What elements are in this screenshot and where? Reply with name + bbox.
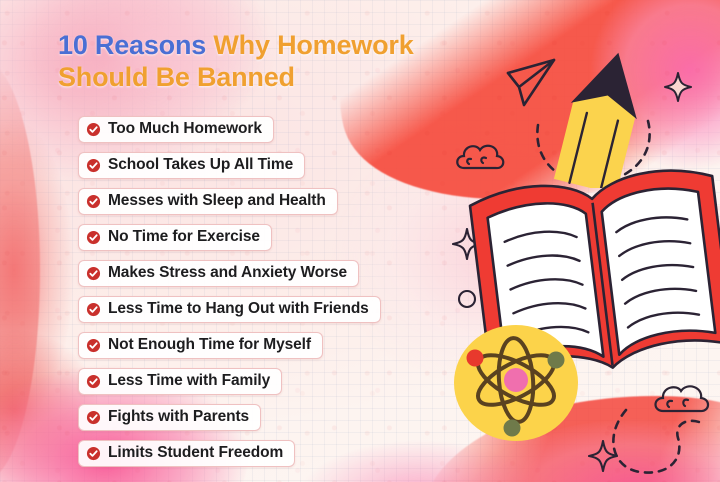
infographic-poster: 10 Reasons Why Homework Should Be Banned…: [0, 0, 720, 482]
list-item-label: Too Much Homework: [108, 120, 262, 138]
check-circle-icon: [86, 446, 101, 461]
reasons-list: Too Much HomeworkSchool Takes Up All Tim…: [78, 116, 381, 476]
list-item-label: Not Enough Time for Myself: [108, 336, 311, 354]
list-item[interactable]: Less Time with Family: [78, 368, 282, 395]
check-circle-icon: [86, 338, 101, 353]
list-item[interactable]: No Time for Exercise: [78, 224, 272, 251]
title-highlight: 10 Reasons: [58, 30, 213, 60]
list-item-label: School Takes Up All Time: [108, 156, 293, 174]
check-circle-icon: [86, 374, 101, 389]
list-item[interactable]: Messes with Sleep and Health: [78, 188, 338, 215]
check-circle-icon: [86, 230, 101, 245]
list-item[interactable]: School Takes Up All Time: [78, 152, 305, 179]
list-item[interactable]: Fights with Parents: [78, 404, 261, 431]
list-item-label: Messes with Sleep and Health: [108, 192, 326, 210]
list-item[interactable]: Limits Student Freedom: [78, 440, 295, 467]
list-item[interactable]: Less Time to Hang Out with Friends: [78, 296, 381, 323]
list-item[interactable]: Not Enough Time for Myself: [78, 332, 323, 359]
page-title: 10 Reasons Why Homework Should Be Banned: [58, 30, 488, 93]
check-circle-icon: [86, 266, 101, 281]
list-item-label: Less Time with Family: [108, 372, 270, 390]
check-circle-icon: [86, 194, 101, 209]
list-item-label: Fights with Parents: [108, 408, 249, 426]
list-item-label: Limits Student Freedom: [108, 444, 283, 462]
title-line-1: 10 Reasons Why Homework: [58, 30, 488, 62]
title-rest-line-2: Should Be Banned: [58, 62, 488, 94]
check-circle-icon: [86, 158, 101, 173]
list-item-label: No Time for Exercise: [108, 228, 260, 246]
title-rest-line-1: Why Homework: [213, 30, 413, 60]
check-circle-icon: [86, 122, 101, 137]
list-item-label: Makes Stress and Anxiety Worse: [108, 264, 347, 282]
check-circle-icon: [86, 302, 101, 317]
list-item[interactable]: Too Much Homework: [78, 116, 274, 143]
check-circle-icon: [86, 410, 101, 425]
list-item[interactable]: Makes Stress and Anxiety Worse: [78, 260, 359, 287]
list-item-label: Less Time to Hang Out with Friends: [108, 300, 369, 318]
